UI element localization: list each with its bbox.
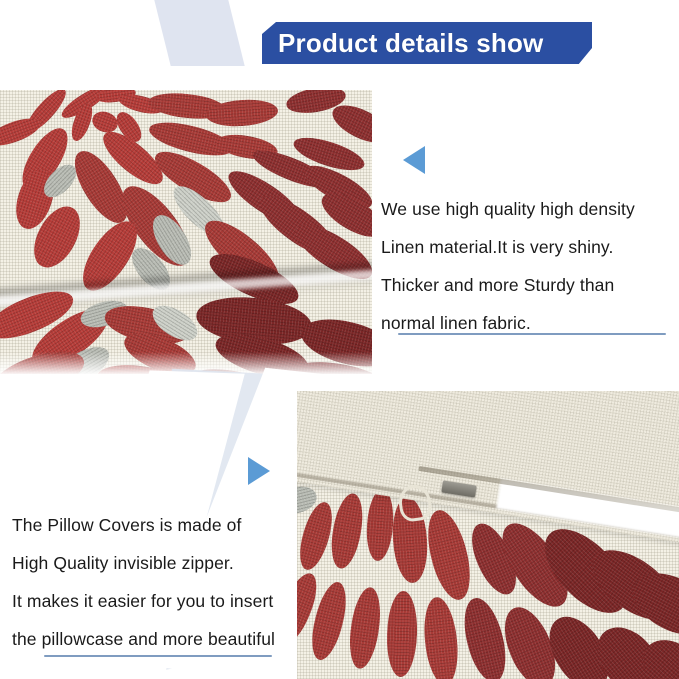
copy-line: The Pillow Covers is made of [12, 506, 275, 544]
section-divider-bottom [44, 655, 272, 657]
invisible-zipper-closeup-photo [297, 391, 679, 679]
copy-line: normal linen fabric. [381, 304, 635, 342]
photo-top-white-margin [0, 66, 372, 90]
section-divider-top [398, 333, 666, 335]
invisible-zipper-copy: The Pillow Covers is made of High Qualit… [12, 506, 275, 658]
right-pointing-arrow-icon [248, 457, 270, 485]
copy-line: Thicker and more Sturdy than [381, 266, 635, 304]
left-pointing-arrow-icon [403, 146, 425, 174]
copy-line: It makes it easier for you to insert [12, 582, 275, 620]
copy-line: High Quality invisible zipper. [12, 544, 275, 582]
page-title-banner: Product details show [262, 22, 592, 64]
product-details-page: Product details show We use high quality… [0, 0, 679, 679]
folded-floral-linen-fabric-photo [0, 66, 372, 374]
copy-line: We use high quality high density [381, 190, 635, 228]
copy-line: the pillowcase and more beautiful [12, 620, 275, 658]
material-quality-copy: We use high quality high density Linen m… [381, 190, 635, 342]
copy-line: Linen material.It is very shiny. [381, 228, 635, 266]
